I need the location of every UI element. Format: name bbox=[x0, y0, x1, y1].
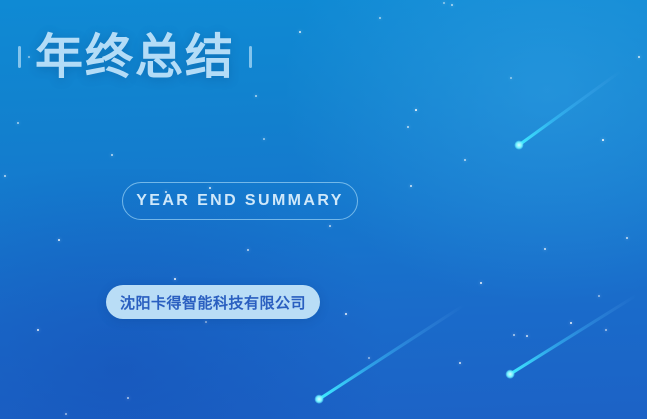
star-dot bbox=[626, 237, 628, 239]
star-dot bbox=[598, 295, 600, 297]
star-dot bbox=[345, 313, 347, 315]
star-dot bbox=[407, 126, 409, 128]
poster-title-text: 年终总结 bbox=[35, 33, 235, 81]
poster-title: 年终总结 bbox=[18, 33, 252, 81]
star-dot bbox=[247, 249, 249, 251]
star-dot bbox=[4, 175, 7, 178]
star-dot bbox=[410, 185, 412, 187]
star-dot bbox=[127, 397, 129, 399]
star-dot bbox=[255, 95, 257, 97]
star-dot bbox=[480, 282, 482, 284]
star-dot bbox=[464, 159, 466, 161]
star-dot bbox=[570, 322, 572, 324]
star-dot bbox=[526, 335, 528, 337]
star-dot bbox=[37, 329, 39, 331]
star-dot bbox=[602, 139, 604, 141]
star-dot bbox=[299, 31, 301, 33]
subtitle-pill-label: YEAR END SUMMARY bbox=[136, 192, 344, 210]
meteor-bottom-center bbox=[316, 303, 465, 401]
meteor-head bbox=[313, 393, 325, 405]
meteor-trail bbox=[316, 303, 465, 401]
star-dot bbox=[638, 56, 640, 58]
meteor-head bbox=[513, 139, 526, 152]
star-dot bbox=[263, 138, 265, 140]
background-glow-top-right bbox=[287, 0, 647, 300]
star-dot bbox=[605, 329, 607, 331]
company-name-pill: 沈阳卡得智能科技有限公司 bbox=[106, 285, 320, 319]
subtitle-pill: YEAR END SUMMARY bbox=[122, 182, 358, 220]
star-dot bbox=[174, 278, 176, 280]
star-dot bbox=[379, 17, 381, 19]
star-dot bbox=[451, 4, 453, 6]
meteor-bottom-right bbox=[507, 294, 637, 377]
star-dot bbox=[443, 2, 445, 4]
star-dot bbox=[205, 321, 207, 323]
meteor-trail bbox=[507, 294, 637, 377]
star-dot bbox=[459, 362, 461, 364]
company-name-label: 沈阳卡得智能科技有限公司 bbox=[120, 292, 306, 313]
star-dot bbox=[17, 122, 19, 124]
star-dot bbox=[111, 154, 113, 156]
tick-mark-icon-left bbox=[18, 46, 21, 68]
meteor-top-right bbox=[516, 70, 621, 148]
meteor-head bbox=[504, 368, 516, 380]
star-dot bbox=[58, 239, 60, 241]
star-dot bbox=[544, 248, 546, 250]
star-dot bbox=[513, 334, 515, 336]
meteor-trail bbox=[516, 70, 621, 148]
star-dot bbox=[510, 77, 512, 79]
year-end-summary-poster: 年终总结 YEAR END SUMMARY 沈阳卡得智能科技有限公司 bbox=[0, 0, 647, 419]
star-dot bbox=[415, 109, 417, 111]
star-dot bbox=[368, 357, 370, 359]
tick-mark-icon-right bbox=[249, 46, 252, 68]
star-dot bbox=[65, 413, 67, 415]
star-dot bbox=[329, 225, 331, 227]
